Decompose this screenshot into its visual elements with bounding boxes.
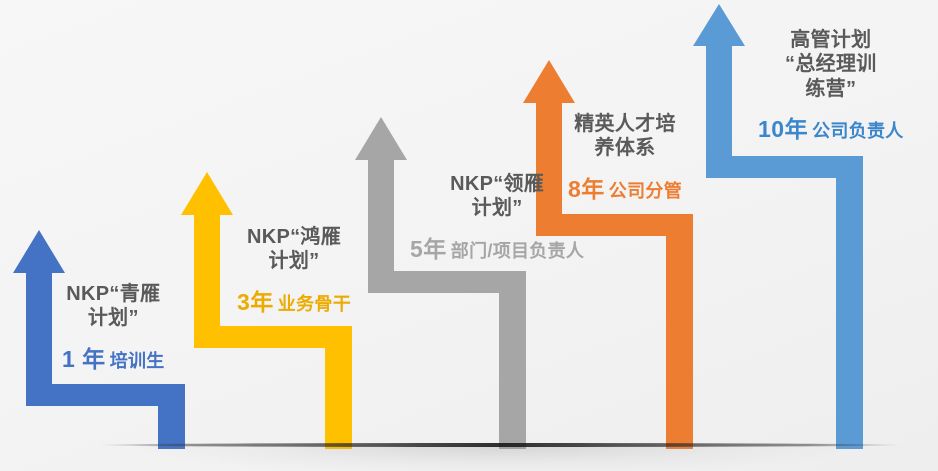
plan-name-3: NKP“领雁 计划” [410, 172, 584, 221]
plan-name-5-line3: 练营” [758, 77, 904, 101]
stage-label-1[interactable]: NKP“青雁 计划” 1 年培训生 [62, 282, 165, 373]
infographic-canvas: NKP“青雁 计划” 1 年培训生 NKP“鸿雁 计划” 3年业务骨干 NKP“… [0, 0, 938, 471]
arrow-shaft-2 [194, 213, 220, 348]
stage-label-5[interactable]: 高管计划 “总经理训 练营” 10年公司负责人 [758, 28, 904, 143]
plan-name-3-line2: 计划” [410, 196, 584, 220]
stage-label-3[interactable]: NKP“领雁 计划” 5年部门/项目负责人 [410, 172, 584, 263]
role-title-1: 培训生 [110, 351, 165, 371]
arrow-shaft-3 [368, 158, 394, 293]
stage-label-2[interactable]: NKP“鸿雁 计划” 3年业务骨干 [237, 225, 351, 316]
plan-name-5: 高管计划 “总经理训 练营” [758, 28, 904, 101]
years-badge-2: 3年 [237, 289, 274, 315]
arrow-leg-5 [836, 156, 863, 449]
arrow-leg-4 [666, 214, 693, 449]
arrow-leg-3 [499, 271, 526, 449]
plan-name-2-line2: 计划” [237, 249, 351, 273]
years-badge-5: 10年 [758, 116, 808, 142]
ground-shadow-glow [140, 446, 860, 471]
arrow-shaft-1 [26, 271, 52, 406]
plan-name-1: NKP“青雁 计划” [62, 282, 165, 331]
years-badge-3: 5年 [410, 236, 447, 262]
plan-name-5-line2: “总经理训 [758, 52, 904, 76]
role-title-4: 公司分管 [609, 181, 682, 201]
years-badge-1: 1 年 [62, 346, 106, 372]
role-title-5: 公司负责人 [812, 121, 904, 141]
arrow-head-3 [355, 117, 407, 160]
plan-name-4: 精英人才培 养体系 [568, 112, 682, 161]
role-line-2: 3年业务骨干 [237, 288, 351, 316]
role-title-2: 业务骨干 [278, 294, 351, 314]
role-line-5: 10年公司负责人 [758, 115, 904, 143]
plan-name-2-line1: NKP“鸿雁 [237, 225, 351, 249]
plan-name-1-line1: NKP“青雁 [62, 282, 165, 306]
arrow-3[interactable] [355, 117, 526, 449]
arrow-head-1 [13, 230, 65, 273]
ground-line [95, 443, 905, 447]
plan-name-4-line2: 养体系 [568, 136, 682, 160]
arrow-shaft-5 [706, 44, 732, 178]
plan-name-2: NKP“鸿雁 计划” [237, 225, 351, 274]
years-badge-4: 8年 [568, 176, 605, 202]
arrow-head-4 [523, 60, 575, 103]
stage-label-4[interactable]: 精英人才培 养体系 8年公司分管 [568, 112, 682, 203]
plan-name-5-line1: 高管计划 [758, 28, 904, 52]
role-line-1: 1 年培训生 [62, 345, 165, 373]
role-title-3: 部门/项目负责人 [451, 241, 584, 261]
role-line-3: 5年部门/项目负责人 [410, 235, 584, 263]
role-line-4: 8年公司分管 [568, 175, 682, 203]
plan-name-1-line2: 计划” [62, 306, 165, 330]
plan-name-4-line1: 精英人才培 [568, 112, 682, 136]
arrow-head-2 [181, 172, 233, 215]
arrow-head-5 [693, 4, 745, 46]
plan-name-3-line1: NKP“领雁 [410, 172, 584, 196]
